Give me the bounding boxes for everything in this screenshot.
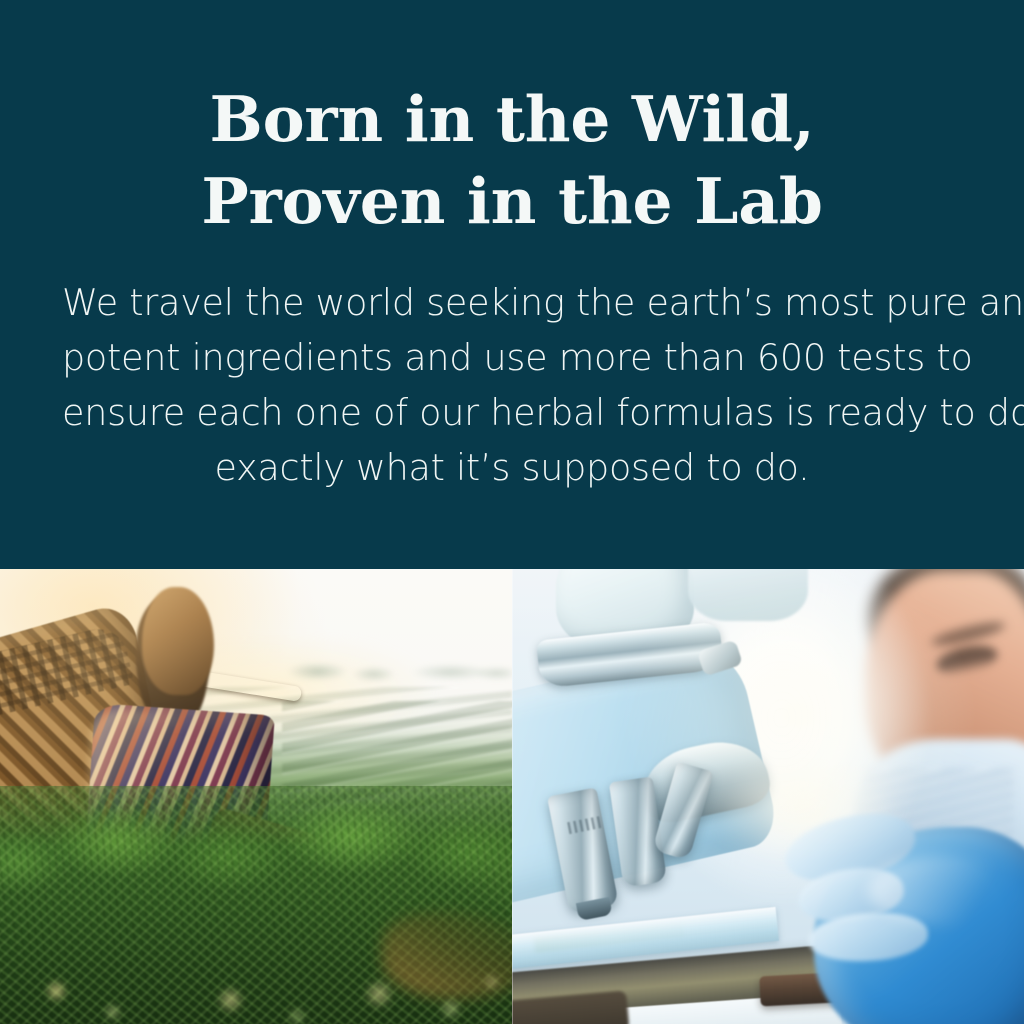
body-copy: We travel the world seeking the earth’s … <box>62 275 962 495</box>
page-title: Born in the Wild, Proven in the Lab <box>112 78 912 242</box>
body-line-3: ensure each one of our herbal formulas i… <box>62 385 962 440</box>
microscope-eyepiece-second <box>688 569 808 621</box>
body-line-4: exactly what it’s supposed to do. <box>62 440 962 495</box>
text-panel: Born in the Wild, Proven in the Lab We t… <box>0 0 1024 569</box>
headline-line-2: Proven in the Lab <box>112 160 912 242</box>
promo-graphic: Born in the Wild, Proven in the Lab We t… <box>0 0 1024 1024</box>
body-line-2: potent ingredients and use more than 600… <box>62 330 962 385</box>
bokeh-highlights <box>0 874 512 1024</box>
laboratory-microscope-photo: Close-up of a scientist in a face mask a… <box>512 569 1024 1024</box>
glove-highlight <box>868 855 1018 925</box>
body-line-1: We travel the world seeking the earth’s … <box>62 275 962 330</box>
headline-line-1: Born in the Wild, <box>112 78 912 160</box>
photo-divider <box>512 569 513 1024</box>
harvester-head <box>142 587 214 695</box>
tea-harvester-photo: Woman harvesting tea leaves by hand in a… <box>0 569 512 1024</box>
